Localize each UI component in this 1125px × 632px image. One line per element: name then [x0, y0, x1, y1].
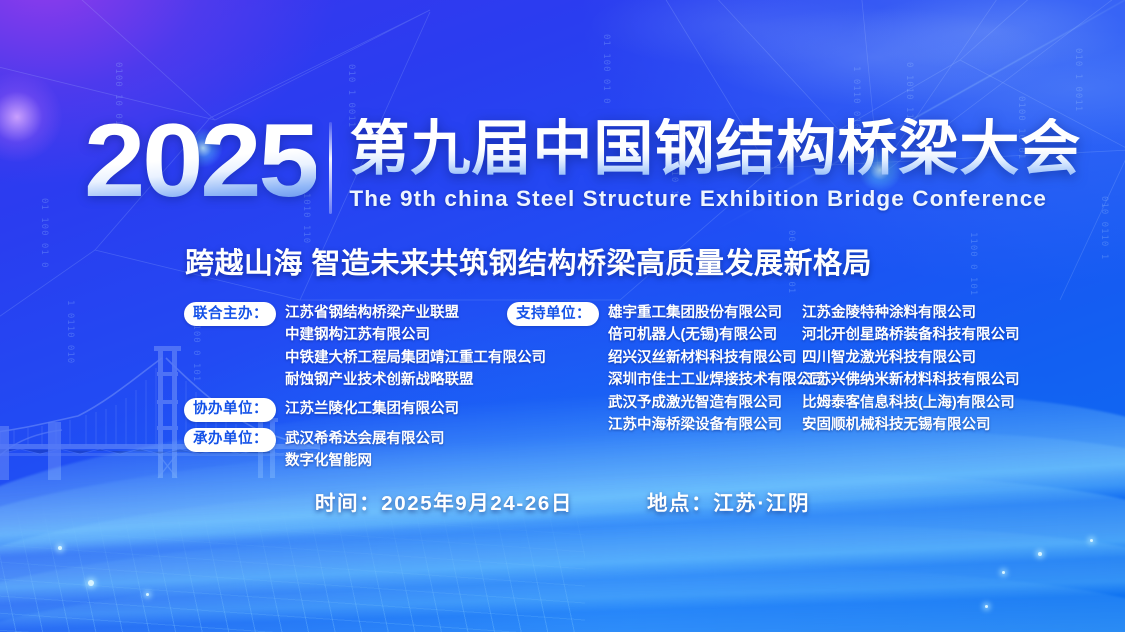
list-item: 数字化智能网 — [285, 450, 445, 472]
footer-info: 时间：2025年9月24-26日 地点：江苏·江阴 — [0, 486, 1125, 516]
undertaker-names: 武汉希希达会展有限公司 数字化智能网 — [285, 428, 445, 473]
list-item: 河北开创星路桥装备科技有限公司 — [802, 324, 1020, 346]
event-date: 时间：2025年9月24-26日 — [315, 486, 573, 516]
headline-block: 2025 第九届中国钢结构桥梁大会 The 9th china Steel St… — [84, 116, 1081, 214]
conference-banner: 01 100 01 0 0100 10 01 1 0110 010 010 1 … — [0, 0, 1125, 632]
list-item: 武汉希希达会展有限公司 — [285, 428, 445, 450]
year-label: 2025 — [84, 116, 317, 208]
supporters-label: 支持单位： — [507, 302, 599, 326]
list-item: 深圳市佳士工业焊接技术有限公司 — [608, 369, 826, 391]
event-location: 地点：江苏·江阴 — [647, 486, 810, 516]
list-item: 安固顺机械科技无锡有限公司 — [802, 414, 1020, 436]
co-organizer-names: 江苏兰陵化工集团有限公司 — [285, 398, 459, 420]
organizer-column-middle: 支持单位： 雄宇重工集团股份有限公司 倍可机器人(无锡)有限公司 绍兴汉丝新材料… — [507, 302, 826, 437]
list-item: 比姆泰客信息科技(上海)有限公司 — [802, 392, 1020, 414]
tagline: 跨越山海 智造未来共筑钢结构桥梁高质量发展新格局 — [185, 240, 872, 282]
list-item: 江苏中海桥梁设备有限公司 — [608, 414, 826, 436]
undertaker-label: 承办单位： — [184, 428, 276, 452]
supporters-row: 支持单位： 雄宇重工集团股份有限公司 倍可机器人(无锡)有限公司 绍兴汉丝新材料… — [507, 302, 826, 436]
page-subtitle-en: The 9th china Steel Structure Exhibition… — [349, 186, 1081, 212]
list-item: 雄宇重工集团股份有限公司 — [608, 302, 826, 324]
joint-hosts-row: 联合主办： 江苏省钢结构桥梁产业联盟 中建钢构江苏有限公司 中铁建大桥工程局集团… — [184, 302, 546, 392]
page-title: 第九届中国钢结构桥梁大会 — [349, 118, 1081, 180]
title-divider — [329, 122, 332, 214]
list-item: 绍兴汉丝新材料科技有限公司 — [608, 347, 826, 369]
list-item: 江苏兴佛纳米新材料科技有限公司 — [802, 369, 1020, 391]
list-item: 江苏兰陵化工集团有限公司 — [285, 398, 459, 420]
co-organizer-label: 协办单位： — [184, 398, 276, 422]
undertaker-row: 承办单位： 武汉希希达会展有限公司 数字化智能网 — [184, 428, 546, 473]
list-item: 武汉予成激光智造有限公司 — [608, 392, 826, 414]
supporters-names-col1: 雄宇重工集团股份有限公司 倍可机器人(无锡)有限公司 绍兴汉丝新材料科技有限公司… — [608, 302, 826, 436]
organizer-column-right: 江苏金陵特种涂料有限公司 河北开创星路桥装备科技有限公司 四川智龙激光科技有限公… — [802, 302, 1020, 436]
list-item: 江苏金陵特种涂料有限公司 — [802, 302, 1020, 324]
joint-hosts-label: 联合主办： — [184, 302, 276, 326]
co-organizer-row: 协办单位： 江苏兰陵化工集团有限公司 — [184, 398, 546, 422]
list-item: 四川智龙激光科技有限公司 — [802, 347, 1020, 369]
organizer-column-left: 联合主办： 江苏省钢结构桥梁产业联盟 中建钢构江苏有限公司 中铁建大桥工程局集团… — [184, 302, 546, 474]
list-item: 倍可机器人(无锡)有限公司 — [608, 324, 826, 346]
